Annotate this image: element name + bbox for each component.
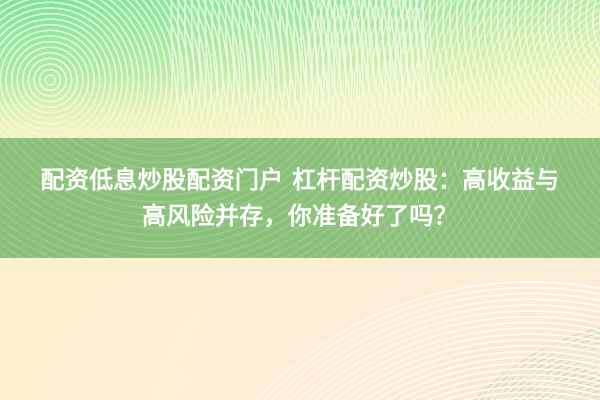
bottom-right-gold-ripple-pattern	[279, 258, 600, 400]
top-decorative-zone	[0, 0, 600, 138]
bottom-right-ripple-pattern	[112, 258, 600, 400]
headline-text: 配资低息炒股配资门户 杠杆配资炒股：高收益与 高风险并存，你准备好了吗？	[0, 138, 600, 258]
top-right-arc-pattern-secondary	[226, 0, 600, 138]
bottom-decorative-zone	[0, 258, 600, 400]
banner: 配资低息炒股配资门户 杠杆配资炒股：高收益与 高风险并存，你准备好了吗？	[0, 0, 600, 400]
top-right-arc-pattern	[170, 0, 600, 138]
headline-line-1: 配资低息炒股配资门户 杠杆配资炒股：高收益与	[41, 166, 560, 194]
bottom-right-green-ripple-pattern	[387, 305, 600, 400]
top-left-arc-pattern	[0, 0, 479, 138]
bottom-zone-fade-overlay	[0, 258, 600, 400]
bottom-left-ripple-pattern	[0, 290, 428, 400]
top-zone-fade-overlay	[0, 0, 600, 138]
headline-line-2: 高风险并存，你准备好了吗？	[142, 202, 458, 230]
